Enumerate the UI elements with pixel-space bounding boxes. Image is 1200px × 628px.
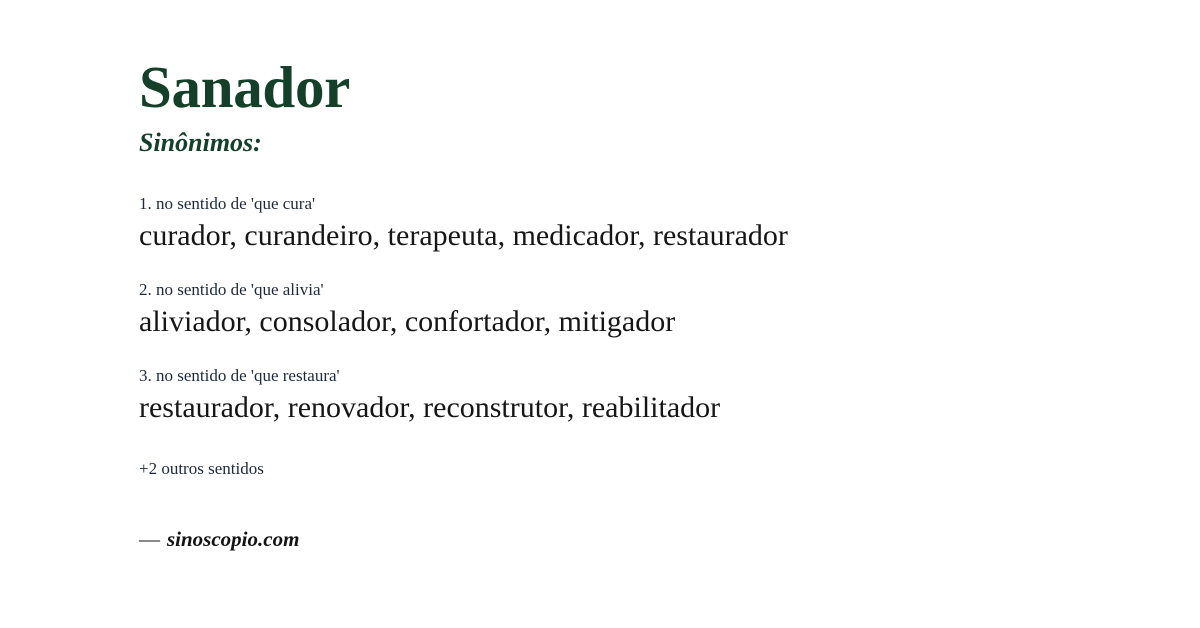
sense-synonyms: curador, curandeiro, terapeuta, medicado…: [139, 216, 1140, 255]
sense-label: 1. no sentido de 'que cura': [139, 193, 1140, 214]
em-dash-icon: —: [139, 527, 160, 551]
attribution-source: sinoscopio.com: [167, 527, 299, 551]
card-content: Sanador Sinônimos: 1. no sentido de 'que…: [139, 56, 1140, 552]
sense-label: 2. no sentido de 'que alivia': [139, 279, 1140, 300]
synonym-card: Sanador Sinônimos: 1. no sentido de 'que…: [0, 0, 1200, 628]
attribution: —sinoscopio.com: [139, 527, 1140, 552]
sense-synonyms: restaurador, renovador, reconstrutor, re…: [139, 388, 1140, 427]
more-senses-note: +2 outros sentidos: [139, 458, 1140, 479]
sense-entry-1: 1. no sentido de 'que cura' curador, cur…: [139, 193, 1140, 255]
sense-entry-3: 3. no sentido de 'que restaura' restaura…: [139, 365, 1140, 427]
senses-list: 1. no sentido de 'que cura' curador, cur…: [139, 193, 1140, 428]
sense-label: 3. no sentido de 'que restaura': [139, 365, 1140, 386]
page-title: Sanador: [139, 56, 1140, 120]
sense-synonyms: aliviador, consolador, confortador, miti…: [139, 302, 1140, 341]
section-subtitle: Sinônimos:: [139, 128, 1140, 158]
sense-entry-2: 2. no sentido de 'que alivia' aliviador,…: [139, 279, 1140, 341]
